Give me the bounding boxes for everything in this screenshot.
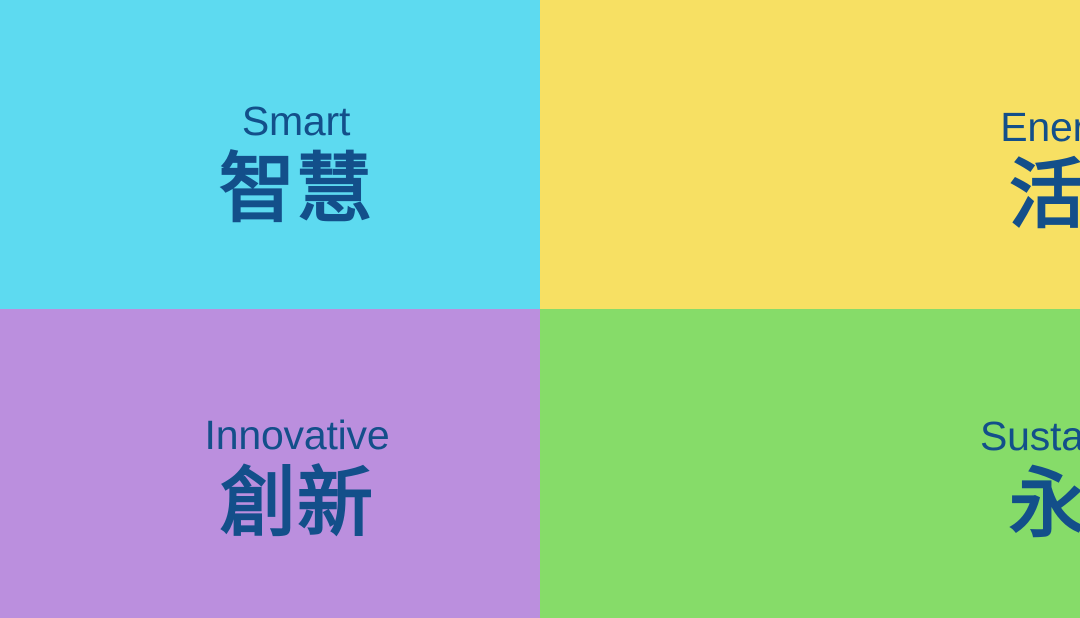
panel-sustainable-chinese-label: 永續: [1009, 464, 1080, 545]
panel-energetic[interactable]: Energetic 活力: [540, 0, 1080, 309]
panel-innovative-english-label: Innovative: [205, 414, 390, 457]
panel-smart-chinese-label: 智慧: [219, 149, 373, 230]
panel-smart[interactable]: Smart 智慧: [0, 0, 540, 309]
panel-energetic-text-block: Energetic 活力: [1000, 106, 1080, 236]
panel-energetic-english-label: Energetic: [1000, 106, 1080, 149]
panel-smart-text-block: Smart 智慧: [219, 100, 373, 230]
panel-smart-english-label: Smart: [242, 100, 350, 143]
panel-energetic-chinese-label: 活力: [1009, 155, 1080, 236]
value-quadrant-grid: Smart 智慧 Energetic 活力 Innovative 創新 Sust…: [0, 0, 1080, 618]
panel-sustainable-english-label: Sustainable: [980, 415, 1080, 458]
slide-canvas: Smart 智慧 Energetic 活力 Innovative 創新 Sust…: [0, 0, 1080, 618]
panel-innovative-chinese-label: 創新: [220, 463, 374, 544]
panel-sustainable-text-block: Sustainable 永續: [980, 415, 1080, 545]
panel-sustainable[interactable]: Sustainable 永續: [540, 309, 1080, 618]
panel-innovative[interactable]: Innovative 創新: [0, 309, 540, 618]
panel-innovative-text-block: Innovative 創新: [205, 414, 390, 544]
